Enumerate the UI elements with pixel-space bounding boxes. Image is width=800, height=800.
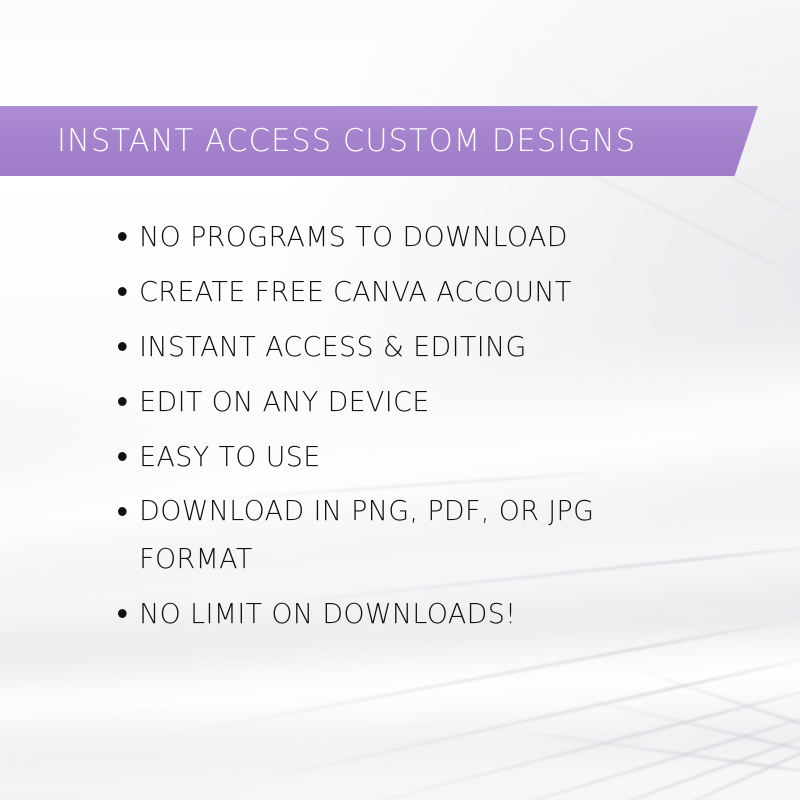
list-item: INSTANT ACCESS & EDITING (118, 322, 713, 371)
promo-graphic-canvas: INSTANT ACCESS CUSTOM DESIGNS NO PROGRAM… (0, 0, 800, 800)
background-swoosh-band-4 (0, 715, 800, 800)
list-item: EDIT ON ANY DEVICE (118, 377, 713, 426)
list-item: NO PROGRAMS TO DOWNLOAD (118, 212, 713, 261)
background-streak-6 (586, 726, 800, 800)
benefits-list: NO PROGRAMS TO DOWNLOAD CREATE FREE CANV… (118, 212, 738, 644)
list-item: DOWNLOAD IN PNG, PDF, OR JPG FORMAT (118, 487, 713, 583)
list-item: NO LIMIT ON DOWNLOADS! (118, 589, 713, 638)
page-title: INSTANT ACCESS CUSTOM DESIGNS (57, 126, 636, 157)
list-item: CREATE FREE CANVA ACCOUNT (118, 267, 713, 316)
background-streak-4 (410, 700, 800, 800)
list-item: EASY TO USE (118, 432, 713, 481)
header-banner: INSTANT ACCESS CUSTOM DESIGNS (0, 106, 758, 176)
